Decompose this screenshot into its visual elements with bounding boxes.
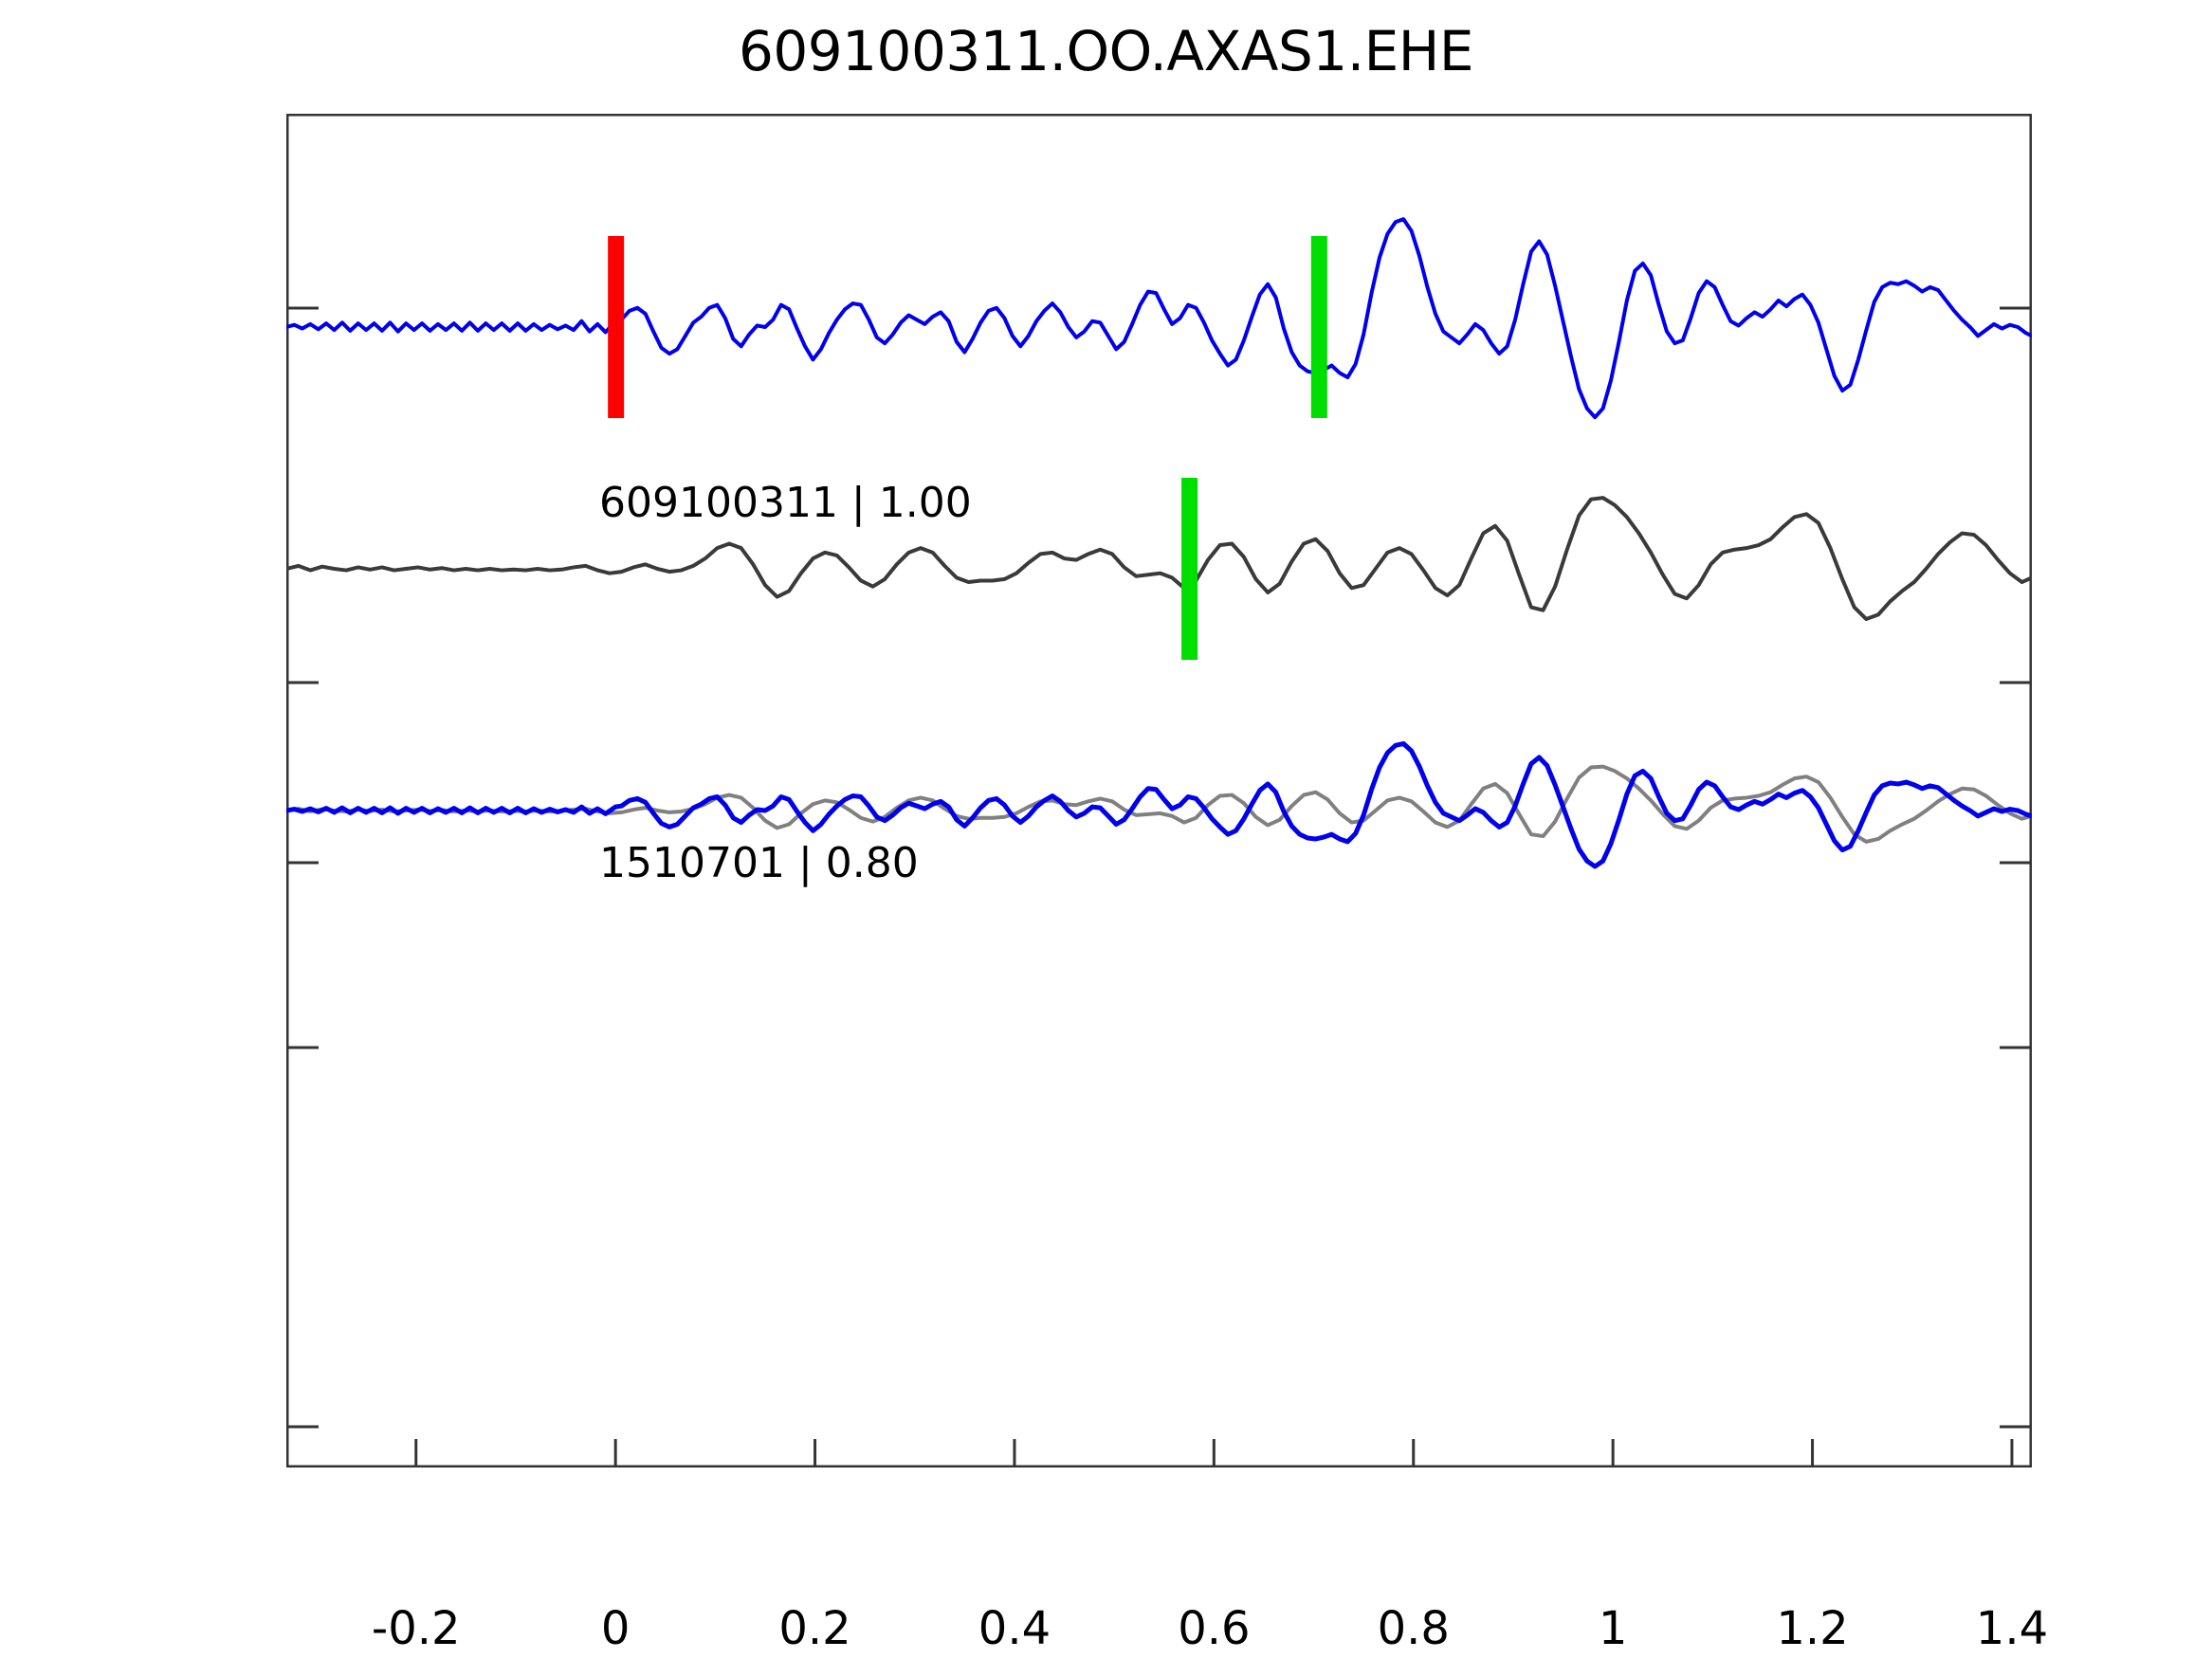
x-tick-label: 0.6: [1178, 1602, 1250, 1655]
overlay-trace-1-waveform: [286, 743, 2032, 866]
x-tick-label: 1: [1599, 1602, 1628, 1655]
p-pick-red: [608, 236, 624, 418]
x-axis-ticks: [416, 1439, 2012, 1466]
overlay-trace-2-waveform: [286, 767, 2032, 842]
trace-2-waveform: [286, 498, 2032, 619]
plot-area: 609100311 | 1.00 1510701 | 0.80 -0.200.2…: [286, 114, 2032, 1468]
s-pick-green-trace1: [1311, 236, 1327, 418]
trace-1-label: 609100311 | 1.00: [599, 479, 972, 527]
waveform-traces: [286, 219, 2032, 866]
x-tick-label: 0.4: [978, 1602, 1051, 1655]
s-pick-green-trace2: [1181, 478, 1197, 660]
x-tick-label: 0.2: [778, 1602, 850, 1655]
x-tick-label: -0.2: [372, 1602, 461, 1655]
trace-2-label: 1510701 | 0.80: [599, 839, 919, 887]
x-tick-label: 1.4: [1976, 1602, 2048, 1655]
x-tick-label: 0: [601, 1602, 631, 1655]
plot-canvas: [286, 114, 2032, 1468]
trace-1-waveform: [286, 219, 2032, 417]
phase-pick-markers: [608, 236, 1327, 660]
y-axis-ticks: [286, 308, 2032, 1427]
x-tick-label: 1.2: [1776, 1602, 1848, 1655]
x-tick-label: 0.8: [1378, 1602, 1450, 1655]
page-title: 609100311.OO.AXAS1.EHE: [0, 19, 2212, 83]
seismogram-figure: 609100311.OO.AXAS1.EHE 609100311 | 1.00 …: [0, 0, 2212, 1659]
